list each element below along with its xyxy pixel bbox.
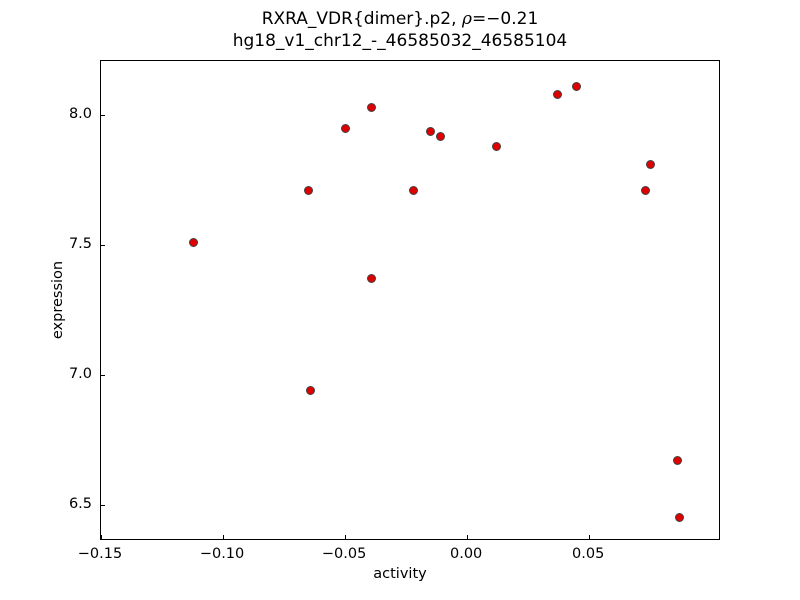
plot-axes-frame <box>100 60 720 540</box>
chart-title-line-1: RXRA_VDR{dimer}.p2, ρ=−0.21 <box>0 8 800 30</box>
x-axis-tick <box>345 535 346 539</box>
rho-symbol: ρ <box>462 9 472 29</box>
x-axis-tick <box>101 535 102 539</box>
chart-title: RXRA_VDR{dimer}.p2, ρ=−0.21 hg18_v1_chr1… <box>0 8 800 52</box>
scatter-point <box>304 186 313 195</box>
scatter-point <box>306 386 315 395</box>
scatter-point <box>553 90 562 99</box>
scatter-point <box>646 160 655 169</box>
scatter-point <box>409 186 418 195</box>
scatter-point <box>436 132 445 141</box>
y-axis-tick-label: 6.5 <box>69 496 92 512</box>
x-axis-tick <box>589 535 590 539</box>
chart-title-line-2: hg18_v1_chr12_-_46585032_46585104 <box>0 30 800 52</box>
y-axis-tick <box>101 245 105 246</box>
y-axis-tick-label: 8.0 <box>69 106 92 122</box>
scatter-point <box>641 186 650 195</box>
y-axis-tick <box>101 375 105 376</box>
scatter-point <box>189 238 198 247</box>
x-axis-tick-label: −0.15 <box>78 546 122 562</box>
scatter-point <box>572 82 581 91</box>
scatter-point <box>675 513 684 522</box>
x-axis-tick-label: 0.00 <box>450 546 482 562</box>
y-axis-tick <box>101 505 105 506</box>
y-axis-label: expression <box>50 261 66 339</box>
figure-canvas: RXRA_VDR{dimer}.p2, ρ=−0.21 hg18_v1_chr1… <box>0 0 800 600</box>
y-axis-tick <box>101 115 105 116</box>
x-axis-tick-label: −0.05 <box>322 546 366 562</box>
x-axis-tick <box>223 535 224 539</box>
scatter-plot-area <box>101 61 719 539</box>
x-axis-tick <box>467 535 468 539</box>
scatter-point <box>367 103 376 112</box>
y-axis-tick-label: 7.0 <box>69 366 92 382</box>
scatter-point <box>492 142 501 151</box>
x-axis-tick-label: −0.10 <box>200 546 244 562</box>
x-axis-tick-label: 0.05 <box>572 546 604 562</box>
scatter-point <box>341 124 350 133</box>
scatter-point <box>367 274 376 283</box>
y-axis-tick-label: 7.5 <box>69 236 92 252</box>
chart-title-prefix: RXRA_VDR{dimer}.p2, <box>262 9 462 29</box>
rho-value: =−0.21 <box>472 9 538 29</box>
x-axis-label: activity <box>0 566 800 582</box>
scatter-point <box>426 127 435 136</box>
scatter-point <box>673 456 682 465</box>
